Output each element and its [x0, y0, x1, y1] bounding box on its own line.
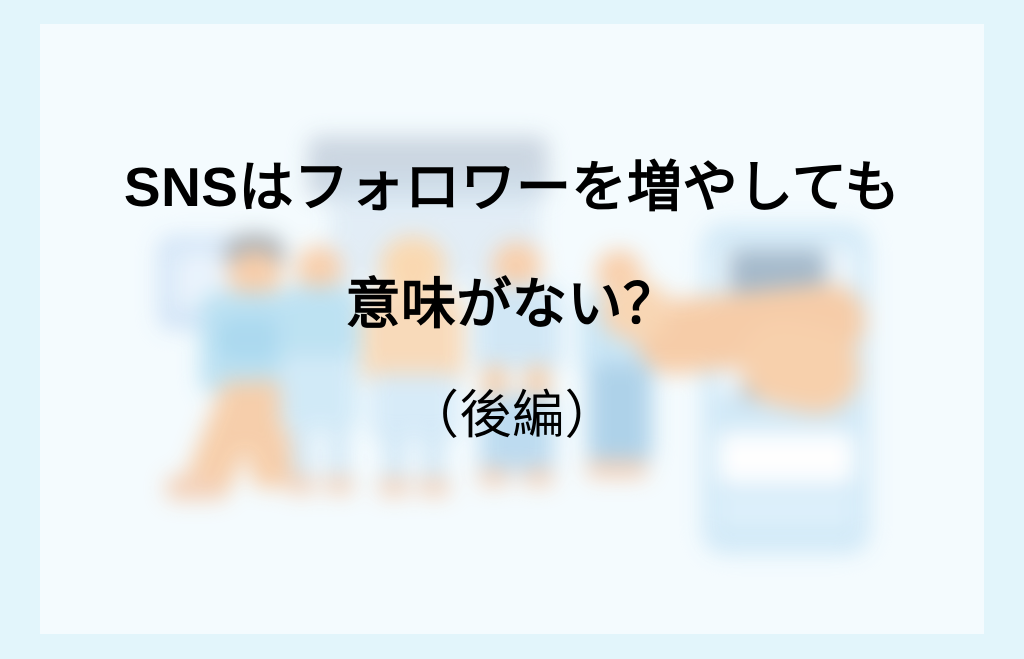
headline-line-2: 意味がない？ — [345, 277, 678, 332]
headline-text-block: SNSはフォロワーを増やしても 意味がない？ （後編） — [40, 24, 984, 634]
title-card-canvas: SNSはフォロワーを増やしても 意味がない？ （後編） — [0, 0, 1024, 659]
inner-panel: SNSはフォロワーを増やしても 意味がない？ （後編） — [40, 24, 984, 634]
headline-line-3: （後編） — [407, 390, 617, 442]
headline-line-1: SNSはフォロワーを増やしても — [124, 160, 900, 215]
